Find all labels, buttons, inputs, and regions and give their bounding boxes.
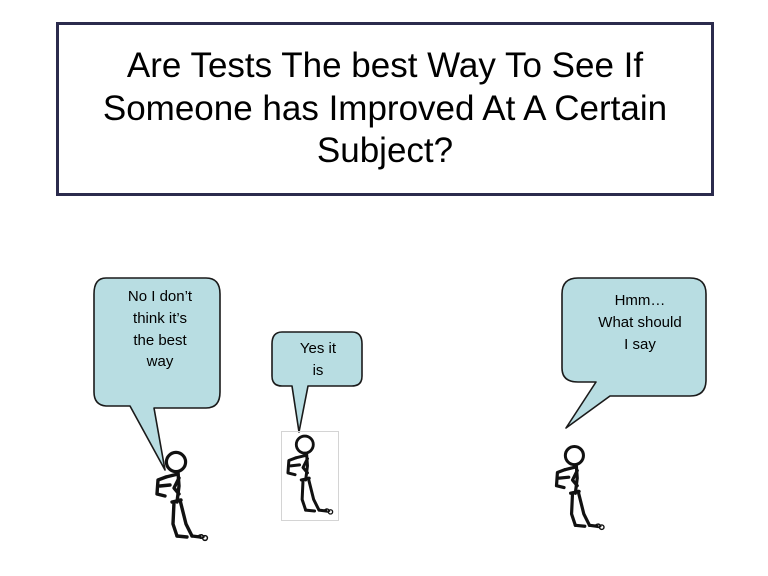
stick-figure-left-art: [157, 452, 200, 537]
stick-figure-right-foot-detail: [595, 524, 604, 529]
slide-canvas: Are Tests The best Way To See If Someone…: [0, 0, 768, 576]
stick-figure-left[interactable]: [148, 450, 218, 545]
stick-figure-middle[interactable]: [280, 432, 342, 520]
title-box[interactable]: Are Tests The best Way To See If Someone…: [56, 22, 714, 196]
speech-bubble-2-shape: [272, 332, 362, 432]
stick-figure-right[interactable]: [548, 444, 614, 534]
page-title: Are Tests The best Way To See If Someone…: [59, 45, 711, 173]
stick-figure-middle-foot-detail: [324, 509, 332, 514]
stick-figure-right-art: [556, 446, 597, 526]
speech-bubble-2[interactable]: Yes it is: [270, 330, 366, 445]
speech-bubble-3[interactable]: Hmm… What should I say: [560, 276, 720, 456]
speech-bubble-1[interactable]: No I don’t think it’s the best way: [92, 276, 226, 476]
stick-figure-middle-art: [288, 436, 326, 511]
speech-bubble-3-shape: [562, 278, 706, 428]
stick-figure-left-foot-detail: [198, 535, 207, 541]
speech-bubble-1-shape: [94, 278, 220, 470]
